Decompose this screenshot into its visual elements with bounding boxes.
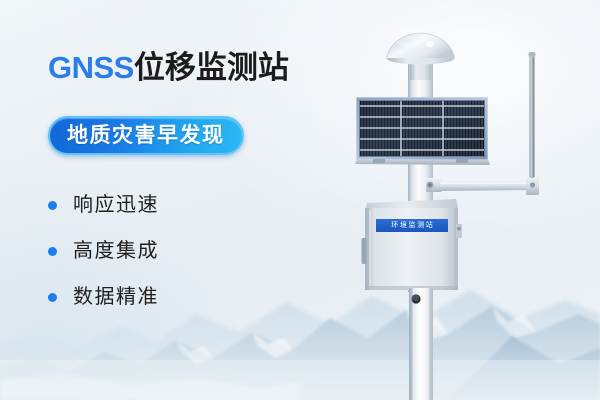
gnss-monitoring-station-device bbox=[330, 0, 600, 400]
bullet-dot-icon bbox=[48, 247, 57, 256]
list-item: 响应迅速 bbox=[48, 182, 278, 228]
status-badge: 地质灾害早发现 bbox=[48, 116, 244, 155]
dome-antenna bbox=[387, 29, 455, 80]
feature-label: 高度集成 bbox=[73, 241, 159, 261]
product-banner: 环境监测站 GNSS位移监测站 地质灾害早发现 响应迅速 高度集成 数据精准 bbox=[0, 0, 600, 400]
enclosure-label-band: 环境监测站 bbox=[376, 219, 448, 232]
enclosure-box bbox=[362, 199, 463, 290]
feature-list: 响应迅速 高度集成 数据精准 bbox=[48, 182, 278, 320]
solar-panel bbox=[355, 97, 490, 165]
feature-label: 响应迅速 bbox=[73, 195, 159, 215]
page-title: GNSS位移监测站 bbox=[48, 52, 289, 83]
enclosure-label-text: 环境监测站 bbox=[391, 222, 434, 229]
whip-antenna bbox=[529, 52, 536, 178]
headline-english: GNSS bbox=[48, 50, 134, 85]
status-badge-label: 地质灾害早发现 bbox=[67, 125, 225, 146]
feature-label: 数据精准 bbox=[73, 287, 159, 307]
list-item: 高度集成 bbox=[48, 228, 278, 274]
mounting-arm bbox=[426, 176, 539, 195]
headline-chinese: 位移监测站 bbox=[134, 50, 289, 85]
bullet-dot-icon bbox=[48, 293, 57, 302]
list-item: 数据精准 bbox=[48, 274, 278, 320]
bullet-dot-icon bbox=[48, 201, 57, 210]
